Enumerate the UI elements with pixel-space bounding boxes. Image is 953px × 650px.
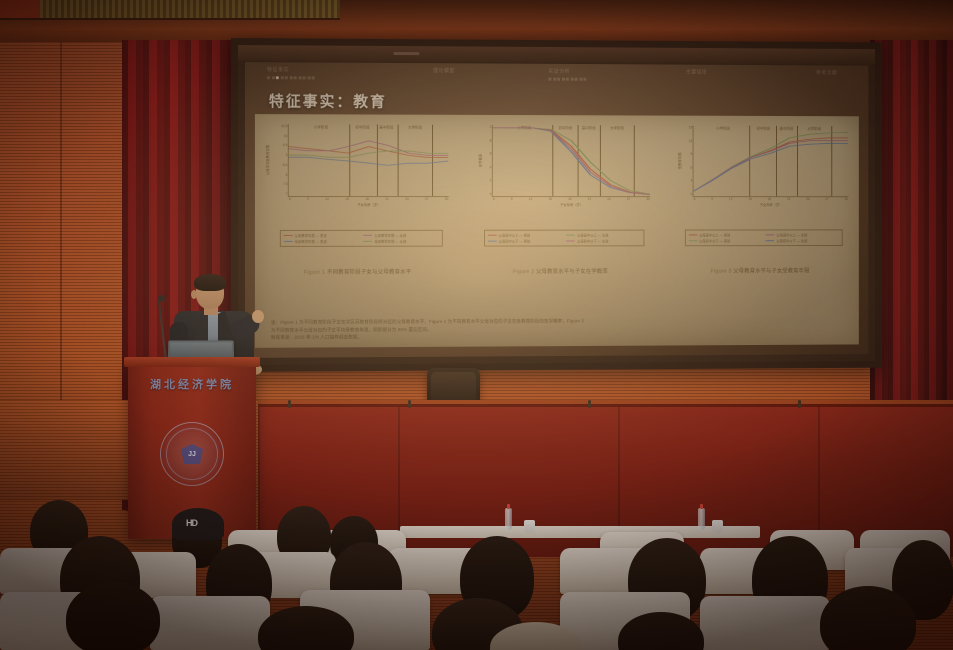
- lecture-hall-photo: 特征事实 理论模型 实证分析 主要结论: [0, 0, 953, 650]
